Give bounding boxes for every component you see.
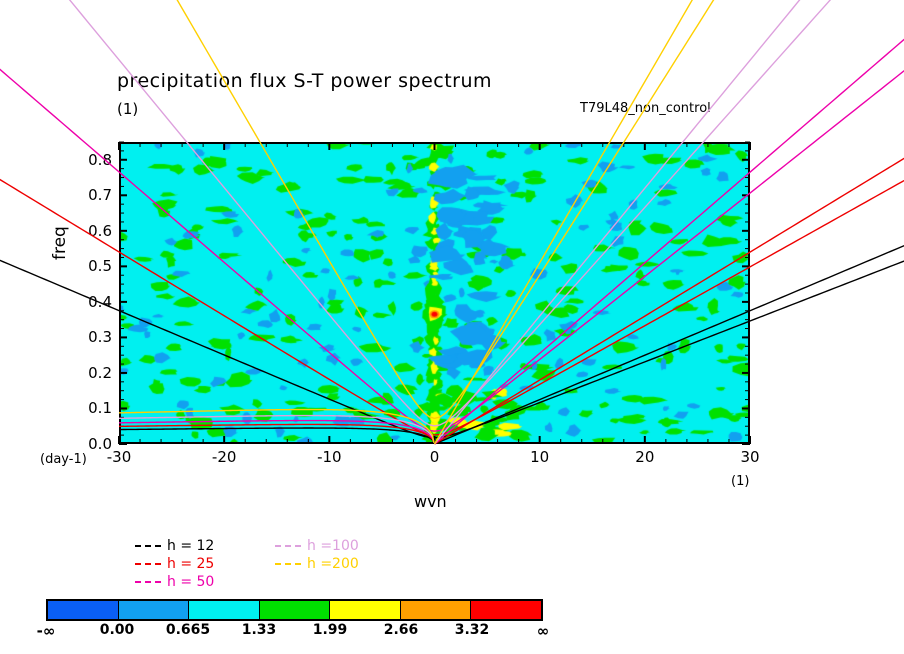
colorbar-tick-label: 0.00	[100, 622, 135, 638]
colorbar-segment	[189, 601, 260, 619]
x-axis-tick-labels: -30-20-100102030	[119, 448, 750, 470]
colorbar-tick-label: 2.66	[384, 622, 419, 638]
x-tick-label: -10	[317, 448, 342, 466]
y-tick-label: 0.3	[88, 328, 112, 346]
y-tick-label: 0.8	[88, 151, 112, 169]
colorbar-tick-label: 1.33	[242, 622, 277, 638]
experiment-name: T79L48_non_control	[580, 101, 711, 116]
colorbar-tick-label: -∞	[37, 622, 56, 640]
panel-index: (1)	[117, 100, 138, 118]
y-tick-label: 0.5	[88, 257, 112, 275]
legend-item-label: h = 12	[167, 538, 214, 554]
dispersion-legend: h = 12h = 25h = 50h =100h =200	[135, 538, 405, 588]
x-tick-label: 30	[740, 448, 759, 466]
spectrum-plot	[119, 142, 750, 444]
colorbar-tick-label: 1.99	[313, 622, 348, 638]
x-tick-label: 0	[430, 448, 440, 466]
colorbar-segment	[48, 601, 119, 619]
page-title: precipitation flux S-T power spectrum	[117, 70, 492, 92]
legend-dash-icon	[135, 545, 161, 547]
y-axis-tick-labels: 0.00.10.20.30.40.50.60.70.8	[62, 142, 112, 444]
legend-dash-icon	[275, 545, 301, 547]
legend-item: h = 25	[135, 556, 214, 572]
x-tick-label: -30	[107, 448, 132, 466]
legend-item: h = 50	[135, 574, 214, 590]
legend-item: h = 12	[135, 538, 214, 554]
colorbar-tick-label: 3.32	[455, 622, 490, 638]
colorbar-labels: -∞0.000.6651.331.992.663.32∞	[46, 622, 543, 642]
legend-dash-icon	[135, 563, 161, 565]
legend-dash-icon	[135, 581, 161, 583]
y-tick-label: 0.7	[88, 186, 112, 204]
y-tick-label: 0.2	[88, 364, 112, 382]
y-tick-label: 0.1	[88, 399, 112, 417]
legend-item: h =100	[275, 538, 359, 554]
colorbar-tick-label: ∞	[537, 622, 550, 640]
plot-frame	[119, 142, 750, 444]
colorbar-segment	[330, 601, 401, 619]
y-tick-label: 0.4	[88, 293, 112, 311]
legend-item-label: h = 50	[167, 574, 214, 590]
colorbar-tick-label: 0.665	[166, 622, 210, 638]
legend-item-label: h =200	[307, 556, 359, 572]
legend-item: h =200	[275, 556, 359, 572]
x-tick-label: 20	[635, 448, 654, 466]
legend-dash-icon	[275, 563, 301, 565]
colorbar-segment	[401, 601, 472, 619]
colorbar-segment	[119, 601, 190, 619]
colorbar-segment	[471, 601, 541, 619]
y-tick-label: 0.6	[88, 222, 112, 240]
colorbar	[46, 599, 543, 621]
x-tick-label: -20	[212, 448, 237, 466]
x-tick-label: 10	[530, 448, 549, 466]
legend-item-label: h =100	[307, 538, 359, 554]
x-axis-unit-label: (1)	[731, 474, 749, 489]
x-axis-label: wvn	[414, 492, 447, 511]
y-axis-unit-label: (day-1)	[40, 452, 87, 467]
legend-item-label: h = 25	[167, 556, 214, 572]
colorbar-segment	[260, 601, 331, 619]
